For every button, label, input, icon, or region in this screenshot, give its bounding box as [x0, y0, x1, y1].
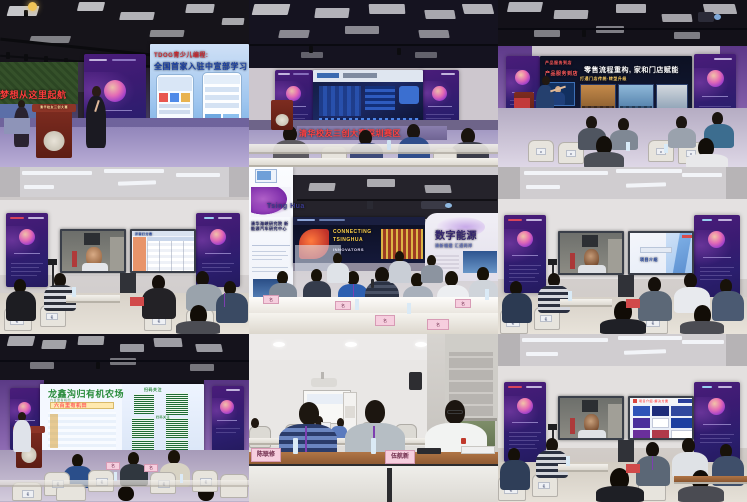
tile6-display-slides: 项目介绍 [628, 231, 694, 275]
tile9-display-slides: 项目介绍·解决方案 [628, 396, 694, 440]
tile6-rollup-banner-right [694, 215, 740, 297]
tile5-placard-3: 名 [375, 315, 395, 326]
tile1-wall-text: 梦想从这里起航 [0, 88, 67, 101]
tile6-chair-tag: 名 [540, 315, 552, 322]
photo-collage: 梦想从这里起航 TDOG青少儿编程: 全国首家入驻中宣部学习 [0, 0, 747, 502]
tile2-led-wall [313, 70, 423, 126]
collage-tile-8: 陈联修 伍航新 [249, 334, 498, 502]
tile4-display-video [60, 229, 126, 273]
tile9-rollup-banner-right [694, 382, 740, 464]
tile7-qr-1 [134, 394, 154, 414]
tile1-screen-line-1: TDOG青少儿编程: [154, 50, 208, 59]
tile3-screen-left-note: 产品服务到店 [545, 70, 578, 77]
tile7-qr-4 [166, 418, 188, 438]
collage-tile-5: Tsing Hua 清华海峡研究院 新能源汽车研究中心 CONNECTING T… [249, 167, 498, 334]
tile8-speaker-box [409, 372, 422, 390]
tile7-chair-tag: 名 [22, 490, 34, 498]
tile7-qr-2 [166, 393, 188, 415]
tile6-screen-title: 项目介绍 [640, 257, 658, 263]
tile7-qr-3 [132, 418, 154, 438]
collage-tile-7: 龙鑫沟归有机农场 六百里有机田 六百里有机田 扫码关注 扫码关注 [0, 334, 249, 502]
tile8-water-bottle [293, 438, 298, 454]
tile5-placard-1: 名 [263, 295, 279, 304]
tile9-display-video [558, 396, 624, 440]
tile5-panel-subtitle: 清新福建 汇通两岸 [435, 243, 473, 249]
tile5-banner-side-text: Tsing Hua [267, 203, 305, 210]
tile8-placard-left: 陈联修 [251, 448, 281, 462]
collage-tile-9: 项目介绍·解决方案 名 名 名 名 [498, 334, 747, 502]
tile8-water-bottle [371, 438, 376, 454]
tile3-screen-sub: 打通门店传统·转型升级 [580, 76, 627, 82]
tile7-qr-label: 扫码关注 [156, 415, 170, 419]
tile7-placard: 名 [144, 464, 158, 472]
tile3-screen-title: 零售流程重构, 家和门店赋能 [584, 65, 679, 75]
tile7-placard: 名 [106, 462, 120, 470]
tile7-led-screen: 龙鑫沟归有机农场 六百里有机田 六百里有机田 扫码关注 扫码关注 [40, 384, 204, 454]
collage-tile-1: 梦想从这里起航 TDOG青少儿编程: 全国首家入驻中宣部学习 [0, 0, 249, 167]
tile8-placard-right: 伍航新 [385, 450, 415, 464]
tile5-panel-title: 数字能源 [435, 227, 477, 242]
tile5-screen-en-1: CONNECTING TSINGHUA [333, 229, 377, 244]
tile3-screen-eyebrow: 产品服务到店 [545, 60, 572, 66]
tile4-rollup-banner-left [6, 213, 48, 287]
tile1-screen-line-2: 全国首家入驻中宣部学习 [154, 61, 248, 72]
collage-tile-4: 评审打分表 名 名 名 [0, 167, 249, 334]
tile5-microphone [371, 279, 374, 288]
tile6-rollup-banner-left [504, 215, 546, 293]
collage-tile-6: 项目介绍 名 名 名 [498, 167, 747, 334]
tile5-placard-5: 名 [455, 299, 471, 308]
tile4-display-scoresheet: 评审打分表 [130, 229, 196, 273]
tile2-stage-banner-text: 清华校友三创大赛深圳赛区 [299, 128, 401, 139]
tile4-screen-title: 评审打分表 [135, 232, 153, 236]
tile5-placard-4: 名 [427, 319, 449, 330]
tile1-podium-label: 清华校友三创大赛 [40, 105, 68, 109]
collage-tile-3: 产品服务到店 零售流程重构, 家和门店赋能 打通门店传统·转型升级 产品服务到店… [498, 0, 747, 167]
tile6-display-video [558, 231, 624, 275]
tile7-screen-line2: 六百里有机田 [54, 402, 87, 409]
tile4-chair-tag: 名 [46, 313, 58, 320]
tile7-rollup-banner-right [212, 386, 244, 452]
tile5-banner-title: 清华海峡研究院 新能源汽车研究中心 [251, 221, 291, 231]
tile9-screen-title: 项目介绍·解决方案 [639, 399, 669, 403]
tile7-qr-caption: 扫码关注 [144, 387, 162, 393]
tile1-podium [36, 108, 72, 158]
tile5-placard-2: 名 [335, 301, 351, 310]
tile9-chair-tag: 名 [538, 482, 550, 489]
tile8-projector [311, 378, 337, 387]
collage-tile-2: 清华校友三创大赛深圳赛区 [249, 0, 498, 167]
